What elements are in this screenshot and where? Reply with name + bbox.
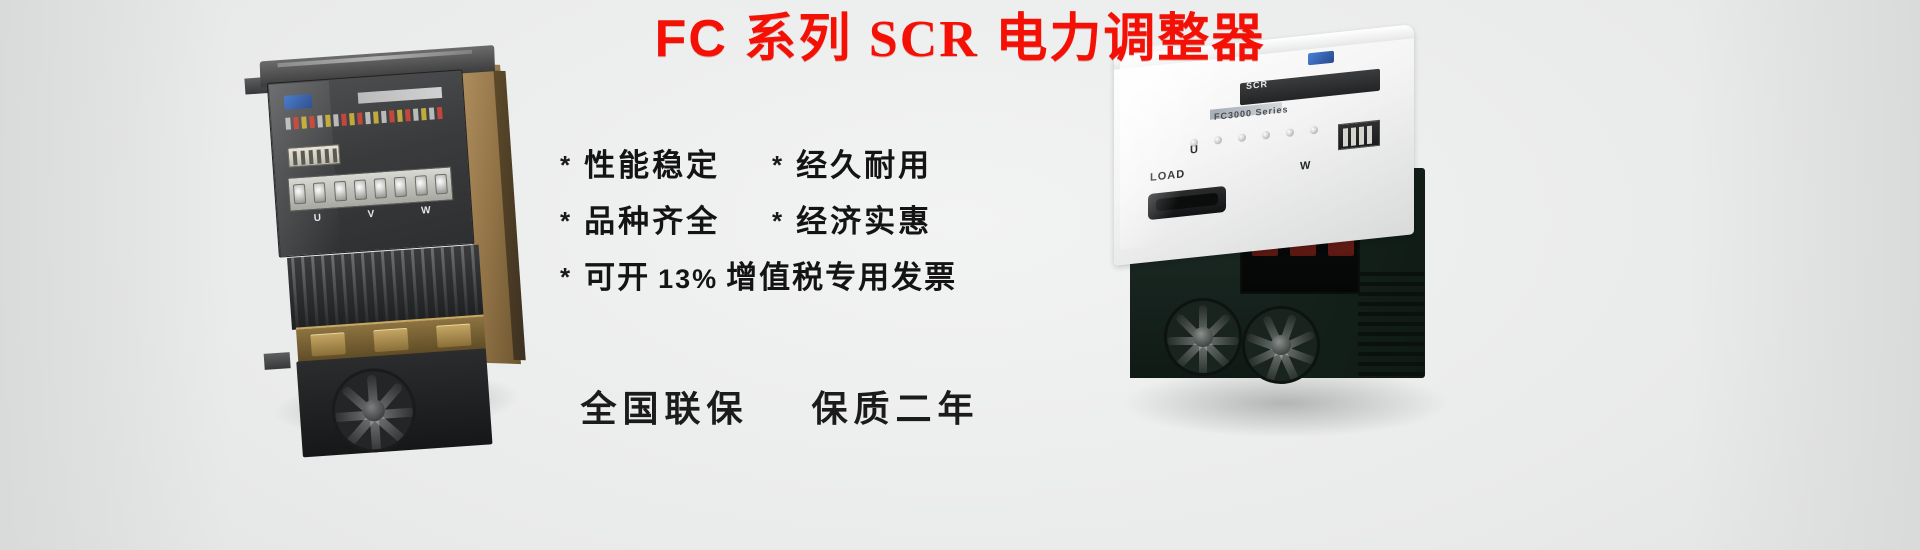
- feature-item-durable: * 经久耐用: [772, 140, 932, 185]
- guarantee-nationwide: 全国联保: [580, 389, 748, 430]
- left-mounting-flange-bottom: [264, 352, 291, 370]
- feature-label-durable: 经久耐用: [796, 140, 932, 185]
- feature-label-economical: 经济实惠: [796, 196, 932, 241]
- guarantee-text: 全国联保 保质二年: [560, 380, 1000, 432]
- tax-line-prefix: 可开: [584, 252, 650, 297]
- promo-banner: U V W: [0, 0, 1920, 550]
- bullet-star-icon: *: [772, 152, 782, 178]
- brand-logo-icon: [284, 94, 313, 110]
- phase-label-w: W: [421, 205, 432, 222]
- phase-label-v: V: [367, 209, 375, 225]
- right-fan-hub-1: [1193, 327, 1213, 347]
- right-terminal-label-u: U: [1190, 144, 1199, 157]
- guarantee-warranty-years: 保质二年: [812, 389, 980, 430]
- tax-line-suffix: 增值税专用发票: [726, 252, 957, 297]
- bullet-star-icon: *: [772, 208, 782, 234]
- feature-list: * 性能稳定 * 经久耐用 * 品种齐全 * 经济实惠 * 可开 13%: [560, 140, 990, 308]
- bullet-star-icon: *: [560, 264, 570, 290]
- feature-row-1: * 性能稳定 * 经久耐用: [560, 140, 990, 196]
- product-image-right: SCR FC3000 Series U W LOAD: [1090, 18, 1490, 438]
- title-part-series: 系列: [744, 9, 852, 69]
- phase-label-u: U: [313, 213, 321, 229]
- right-terminal-label-w: W: [1300, 159, 1311, 172]
- feature-row-3: * 可开 13% 增值税专用发票: [560, 252, 990, 308]
- product-image-left: U V W: [237, 36, 539, 444]
- feature-label-stable: 性能稳定: [584, 140, 720, 185]
- title-part-scr: SCR: [869, 11, 979, 68]
- feature-item-tax-invoice: * 可开 13% 增值税专用发票: [560, 252, 957, 297]
- feature-item-stable: * 性能稳定: [560, 140, 772, 185]
- left-dip-switch: [287, 144, 340, 168]
- title-part-product: 电力调整器: [995, 9, 1265, 69]
- feature-item-variety: * 品种齐全: [560, 196, 772, 241]
- title-part-fc: FC: [655, 10, 728, 68]
- tax-rate-value: 13%: [658, 264, 718, 295]
- feature-item-economical: * 经济实惠: [772, 196, 932, 241]
- right-side-vents: [1358, 268, 1424, 378]
- right-dip-switch: [1338, 120, 1380, 150]
- banner-title: FC 系列 SCR 电力调整器: [0, 8, 1920, 71]
- feature-label-variety: 品种齐全: [584, 196, 720, 241]
- cooling-fan-icon-right-2: [1242, 306, 1320, 384]
- feature-row-2: * 品种齐全 * 经济实惠: [560, 196, 990, 252]
- bullet-star-icon: *: [560, 152, 570, 178]
- right-fan-hub-2: [1271, 335, 1291, 355]
- cooling-fan-icon-right-1: [1164, 298, 1242, 376]
- bullet-star-icon: *: [560, 208, 570, 234]
